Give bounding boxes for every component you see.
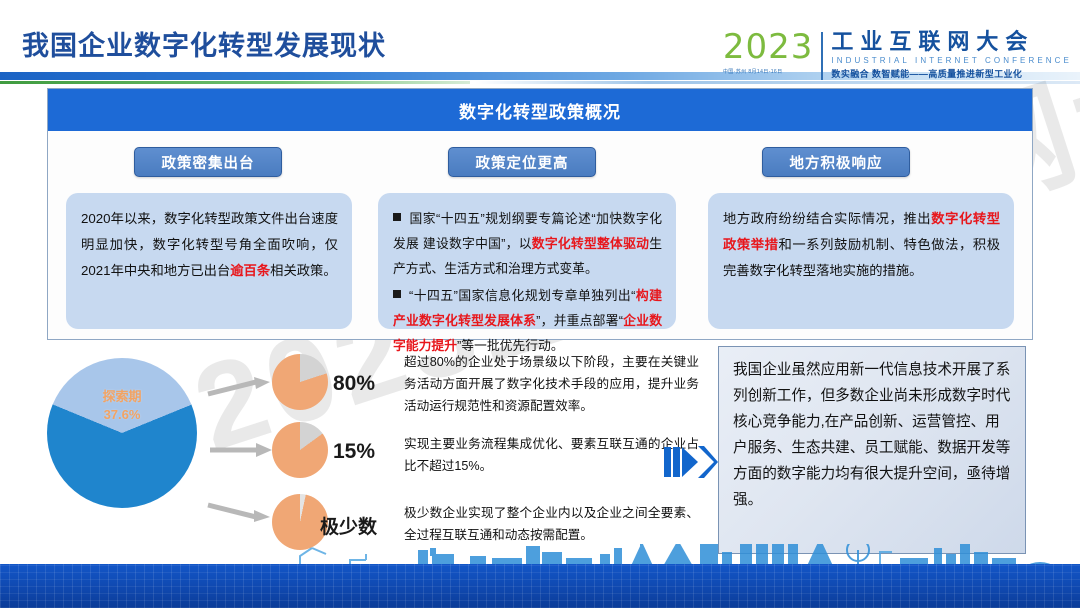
body-text: “十四五”国家信息化规划专章单独列出“	[409, 288, 635, 303]
chart-description-2: 实现主要业务流程集成优化、要素互联互通的企业占比不超过15%。	[404, 433, 699, 477]
mini-pie-label-1: 80%	[333, 372, 375, 396]
body-text: 地方政府纷纷结合实际情况，推出	[723, 211, 931, 226]
policy-card-1: 2020年以来，数字化转型政策文件出台速度明显加快，数字化转型号角全面吹响，仅2…	[66, 193, 352, 329]
arrow-icon-3	[206, 502, 272, 522]
policy-pill-1[interactable]: 政策密集出台	[134, 147, 282, 177]
logo-year-subtitle: 中国·苏州 8月14日-16日	[723, 68, 814, 75]
mini-pie-2	[272, 422, 328, 478]
policy-card-2: 国家“十四五”规划纲要专篇论述“加快数字化发展 建设数字中国”，以数字化转型整体…	[378, 193, 676, 329]
policy-card-3: 地方政府纷纷结合实际情况，推出数字化转型政策举措和一系列鼓励机制、特色做法，积极…	[708, 193, 1014, 329]
chart-description-3: 极少数企业实现了整个企业内以及企业之间全要素、全过程互联互通和动态按需配置。	[404, 502, 699, 546]
policy-panel-title: 数字化转型政策概况	[48, 89, 1032, 131]
mini-pie-1	[272, 354, 328, 410]
logo-english-title: INDUSTRIAL INTERNET CONFERENCE	[831, 56, 1072, 65]
logo-divider	[821, 32, 823, 80]
logo-year: 2023	[723, 30, 814, 64]
policy-panel-body: 政策密集出台 政策定位更高 地方积极响应 2020年以来，数字化转型政策文件出台…	[48, 131, 1032, 340]
main-pie-chart: 探索期 37.6%	[47, 358, 197, 508]
policy-pill-3[interactable]: 地方积极响应	[762, 147, 910, 177]
main-pie-disc	[47, 358, 197, 508]
policy-panel: 数字化转型政策概况 政策密集出台 政策定位更高 地方积极响应 2020年以来，数…	[47, 88, 1033, 340]
arrow-icon-1	[206, 377, 272, 397]
policy-pill-2[interactable]: 政策定位更高	[448, 147, 596, 177]
logo-main-title: 工业互联网大会	[831, 30, 1072, 54]
main-pie-label-value: 37.6%	[104, 407, 141, 422]
arrow-icon-2	[208, 440, 274, 460]
header-green-bar	[0, 81, 470, 84]
bullet-paragraph: 国家“十四五”规划纲要专篇论述“加快数字化发展 建设数字中国”，以数字化转型整体…	[393, 206, 662, 281]
square-bullet-icon	[393, 290, 401, 298]
conference-logo: 2023 中国·苏州 8月14日-16日 工业互联网大会 INDUSTRIAL …	[723, 30, 1072, 80]
conclusion-box: 我国企业虽然应用新一代信息技术开展了系列创新工作，但多数企业尚未形成数字时代核心…	[718, 346, 1026, 554]
logo-tagline: 数实融合 数智赋能——高质量推进新型工业化	[831, 67, 1072, 80]
chevron-right-icon	[662, 438, 720, 486]
main-pie-label-name: 探索期	[102, 389, 141, 404]
square-bullet-icon	[393, 213, 401, 221]
footer-band	[0, 564, 1080, 608]
highlighted-text: 数字化转型整体驱动	[532, 236, 649, 251]
chart-section: 探索期 37.6% 80% 15% 极少数 超过80%的企业处于场景级以下阶段，…	[0, 344, 1080, 564]
main-pie-label: 探索期 37.6%	[47, 388, 197, 424]
chart-description-1: 超过80%的企业处于场景级以下阶段，主要在关键业务活动方面开展了数字化技术手段的…	[404, 351, 699, 417]
page-title: 我国企业数字化转型发展现状	[22, 24, 386, 63]
mini-pie-label-2: 15%	[333, 440, 375, 464]
slide-root: 我国企业数字化转型发展现状 2023 中国·苏州 8月14日-16日 工业互联网…	[0, 0, 1080, 608]
body-text: ”，并重点部署“	[536, 313, 623, 328]
mini-pie-label-3: 极少数	[320, 512, 377, 539]
body-text: 相关政策。	[270, 263, 336, 278]
logo-text-block: 工业互联网大会 INDUSTRIAL INTERNET CONFERENCE 数…	[831, 30, 1072, 80]
highlighted-text: 逾百条	[230, 263, 270, 278]
logo-year-block: 2023 中国·苏州 8月14日-16日	[723, 30, 814, 75]
footer-decoration	[0, 544, 1080, 608]
